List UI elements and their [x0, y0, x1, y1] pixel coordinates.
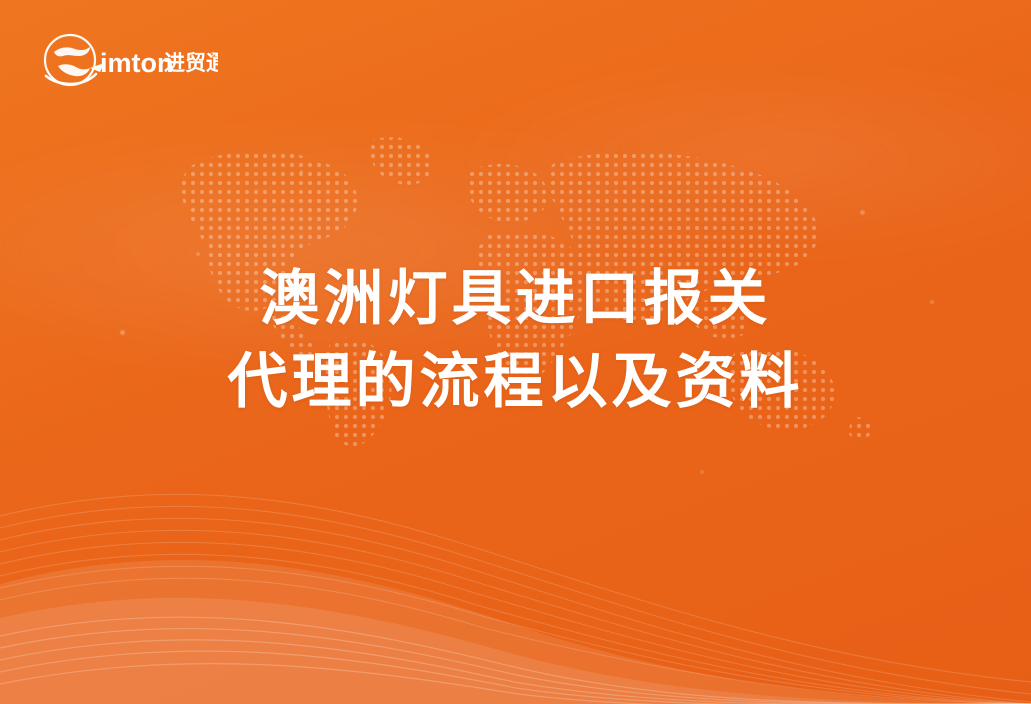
title-line-1: 澳洲灯具进口报关	[0, 258, 1031, 341]
globe-icon	[45, 35, 95, 85]
bokeh-dot	[860, 210, 865, 215]
bokeh-dot	[196, 252, 200, 256]
brand-logo[interactable]: imton 进贸通 ®	[38, 30, 218, 102]
bokeh-dot	[300, 170, 303, 173]
title-line-2: 代理的流程以及资料	[0, 341, 1031, 424]
registered-mark: ®	[210, 51, 216, 60]
poster-title: 澳洲灯具进口报关 代理的流程以及资料	[0, 258, 1031, 424]
logo-text-latin: imton	[100, 48, 174, 78]
poster-canvas: imton 进贸通 ® 澳洲灯具进口报关 代理的流程以及资料	[0, 0, 1031, 704]
